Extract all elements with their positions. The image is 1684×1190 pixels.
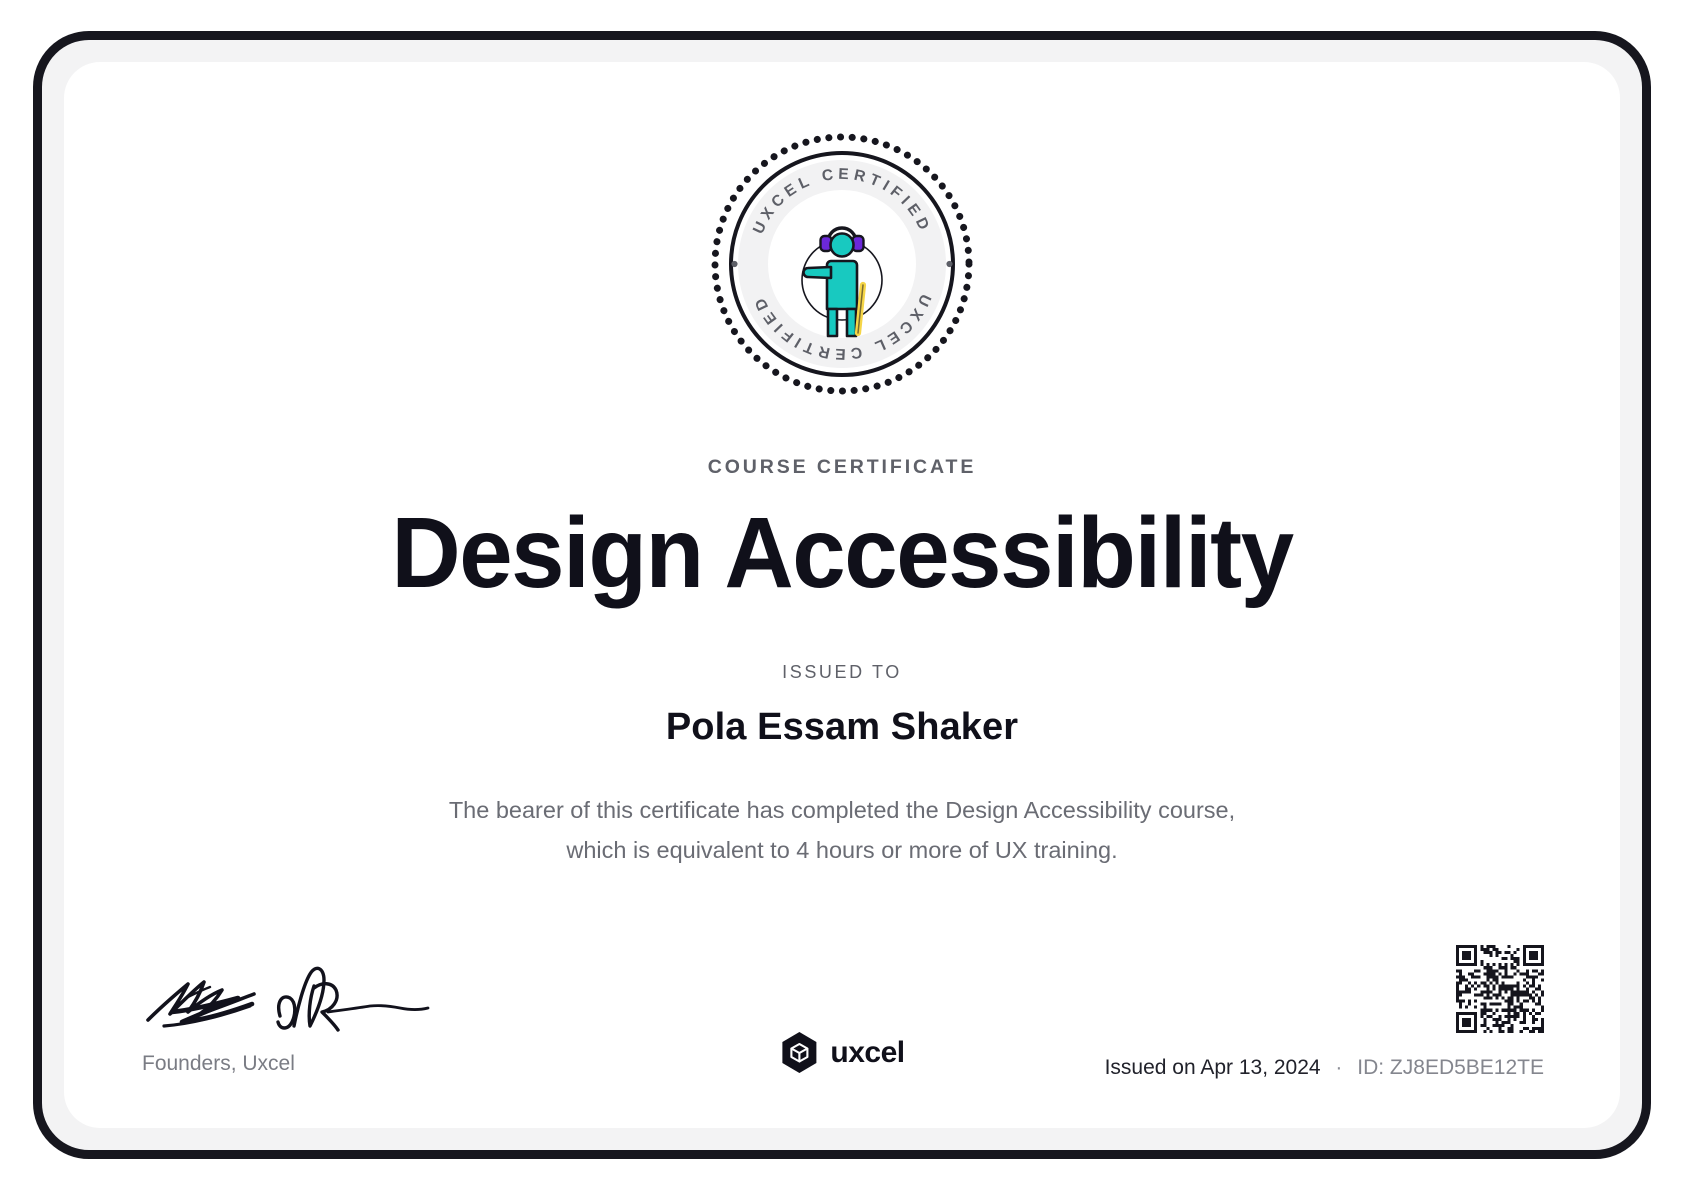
qr-code[interactable] — [1456, 945, 1544, 1033]
certificate-frame: UXCEL CERTIFIED UXCEL CERTIFIED — [33, 31, 1651, 1159]
certificate-description: The bearer of this certificate has compl… — [392, 790, 1292, 871]
credential-meta-block: Issued on Apr 13, 2024 · ID: ZJ8ED5BE12T… — [1105, 945, 1544, 1080]
issue-date: Issued on Apr 13, 2024 — [1105, 1056, 1321, 1079]
description-line-1: The bearer of this certificate has compl… — [392, 790, 1292, 830]
signature-block: Founders, Uxcel — [142, 954, 572, 1076]
issue-meta-line: Issued on Apr 13, 2024 · ID: ZJ8ED5BE12T… — [1105, 1056, 1544, 1080]
certificate-card: UXCEL CERTIFIED UXCEL CERTIFIED — [64, 62, 1620, 1128]
recipient-name: Pola Essam Shaker — [64, 706, 1620, 749]
seal-bullet-left — [731, 261, 737, 267]
founders-caption: Founders, Uxcel — [142, 1052, 572, 1076]
course-certificate-eyebrow: COURSE CERTIFICATE — [64, 456, 1620, 479]
description-line-2: which is equivalent to 4 hours or more o… — [392, 830, 1292, 870]
uxcel-certified-seal: UXCEL CERTIFIED UXCEL CERTIFIED — [708, 130, 976, 398]
uxcel-wordmark: uxcel — [830, 1036, 904, 1070]
uxcel-hexagon-icon — [779, 1031, 819, 1074]
meta-separator: · — [1326, 1056, 1351, 1079]
uxcel-brand-logo: uxcel — [779, 1031, 904, 1074]
credential-id: ID: ZJ8ED5BE12TE — [1357, 1056, 1544, 1079]
seal-bullet-right — [946, 261, 952, 267]
founder-signatures-image — [142, 954, 432, 1040]
issued-to-label: ISSUED TO — [64, 662, 1620, 683]
course-title: Design Accessibility — [95, 497, 1589, 609]
